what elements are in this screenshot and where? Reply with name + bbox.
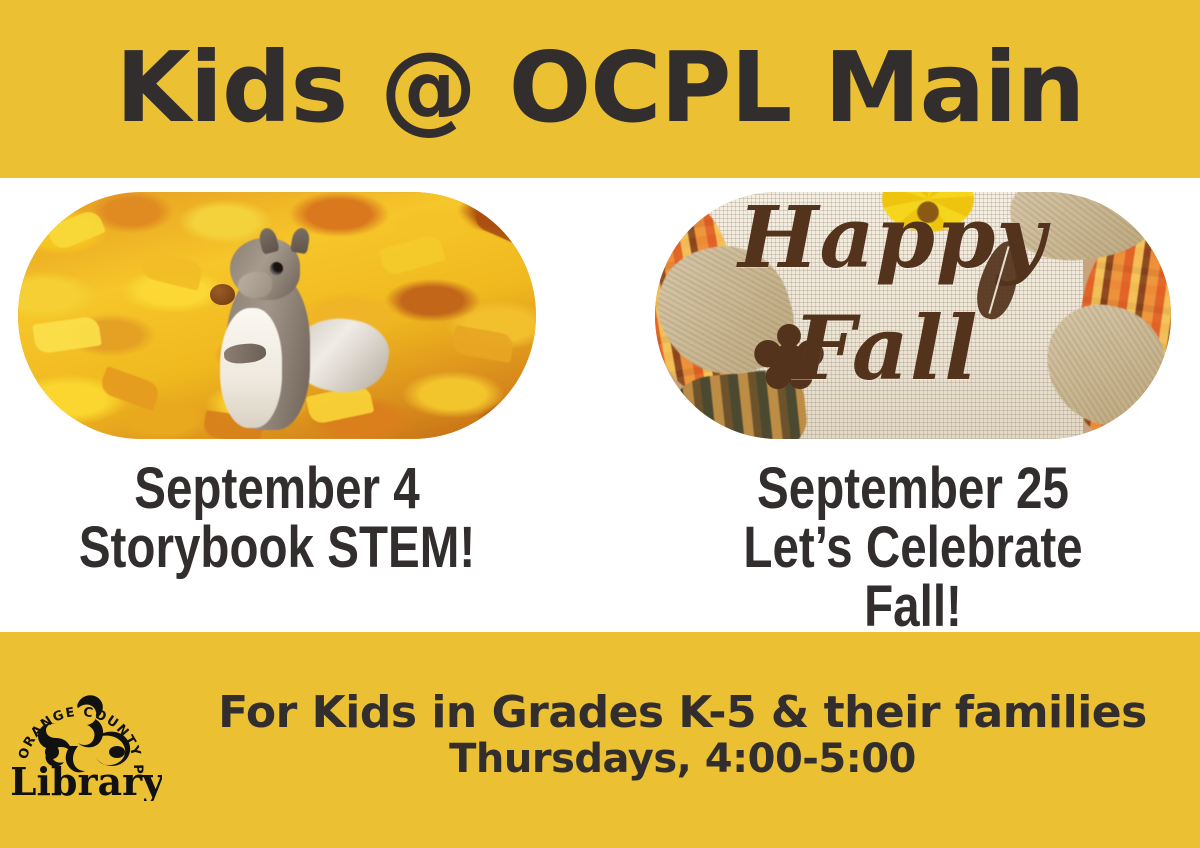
poster-canvas: Kids @ OCPL Main [0, 0, 1200, 848]
footer-band: ORANGE COUNTY PUBLIC Library For Kids in… [0, 632, 1200, 848]
footer-line-2: Thursdays, 4:00-5:00 [180, 737, 1185, 782]
event-card-1: September 4 Storybook STEM! [18, 192, 536, 577]
logo-wordmark: Library [12, 759, 162, 801]
event-caption-1: September 4 Storybook STEM! [65, 459, 490, 577]
event-name-2: Let’s Celebrate Fall! [701, 518, 1124, 636]
squirrel-snout [238, 272, 272, 298]
event-date-2: September 25 [757, 456, 1069, 521]
event-card-2: Happy Fall September 25 Let’s Celebrate … [655, 192, 1171, 636]
event-date-1: September 4 [134, 456, 419, 521]
sign-text-fall: Fall [793, 296, 979, 400]
squirrel-illustration [202, 232, 352, 439]
ocpl-logo: ORANGE COUNTY PUBLIC Library [12, 686, 162, 801]
footer-text: For Kids in Grades K-5 & their families … [180, 688, 1185, 782]
sign-lettering: Happy Fall [691, 192, 1083, 439]
footer-line-1: For Kids in Grades K-5 & their families [180, 688, 1185, 737]
squirrel-belly [220, 308, 282, 428]
acorn-icon [210, 284, 235, 305]
event-photo-squirrel [18, 192, 536, 439]
event-photo-happy-fall-sign: Happy Fall [655, 192, 1171, 439]
fall-sign-scene: Happy Fall [655, 192, 1171, 439]
header-band: Kids @ OCPL Main [0, 0, 1200, 178]
page-title: Kids @ OCPL Main [116, 39, 1085, 136]
squirrel-head [230, 238, 300, 300]
events-section: September 4 Storybook STEM! Happy [0, 178, 1200, 632]
event-caption-2: September 25 Let’s Celebrate Fall! [701, 459, 1124, 636]
event-name-1: Storybook STEM! [65, 518, 490, 577]
squirrel-eye [270, 262, 283, 275]
